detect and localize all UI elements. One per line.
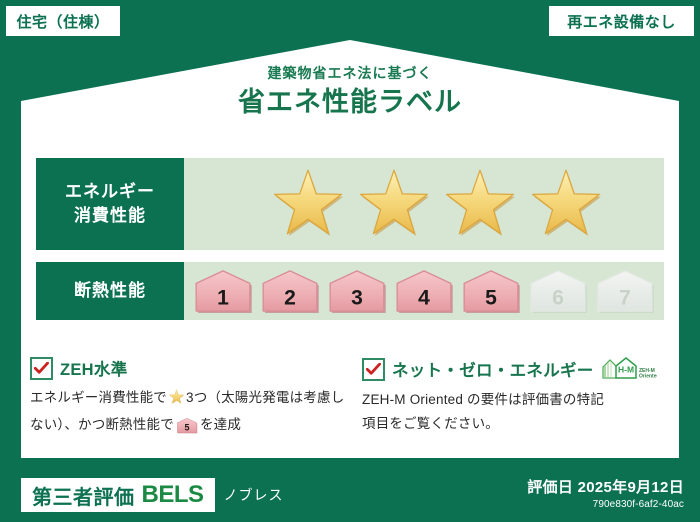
metric-label-insulation-line1: 断熱性能 xyxy=(74,279,146,303)
note-net-zero-energy: ネット・ゼロ・エネルギー H-M ZEH-M Oriented ZEH-M Or… xyxy=(362,356,670,436)
insulation-level-item: 3 xyxy=(326,268,388,314)
note-zeh-body-part1: エネルギー消費性能で xyxy=(30,390,167,405)
checkbox-net-zero-energy xyxy=(362,358,385,381)
house-level-number: 7 xyxy=(619,286,631,309)
house-icon: 2 xyxy=(259,268,321,314)
insulation-level-item: 4 xyxy=(393,268,455,314)
house-icon: 5 xyxy=(176,417,198,434)
star-rating xyxy=(243,167,605,241)
svg-text:Oriented: Oriented xyxy=(639,374,657,380)
house-level-number: 1 xyxy=(217,286,229,309)
star-rating-item xyxy=(269,167,347,241)
tag-house-type-label: 住宅（住棟） xyxy=(16,11,109,32)
footer-evaluation-block: 評価日 2025年9月12日 790e830f-6af2-40ac xyxy=(527,478,684,512)
note-zeh-header: ZEH水準 xyxy=(30,356,348,380)
checkbox-zeh-standard xyxy=(30,357,53,380)
house-icon: 7 xyxy=(594,268,656,314)
evaluation-id: 790e830f-6af2-40ac xyxy=(527,498,684,512)
insulation-level-item: 2 xyxy=(259,268,321,314)
tag-renewable-label: 再エネ設備なし xyxy=(567,11,676,32)
house-icon: 4 xyxy=(393,268,455,314)
star-icon xyxy=(355,167,433,242)
bels-plate: 第三者評価 BELS xyxy=(21,478,215,512)
metric-row-energy-consumption: エネルギー 消費性能 xyxy=(36,158,664,250)
star-icon xyxy=(527,167,605,242)
house-level-number: 5 xyxy=(485,286,497,309)
inline-star-icon xyxy=(168,393,185,408)
note-zeh-body-part3: を達成 xyxy=(200,417,241,432)
zeh-m-oriented-logo-icon: H-M ZEH-M Oriented xyxy=(601,356,657,382)
insulation-level-item: 5 xyxy=(460,268,522,314)
title-block: 建築物省エネ法に基づく 省エネ性能ラベル xyxy=(0,64,700,119)
page-title: 省エネ性能ラベル xyxy=(0,85,700,119)
energy-performance-label: 住宅（住棟） 再エネ設備なし 建築物省エネ法に基づく 省エネ性能ラベル エネルギ… xyxy=(0,0,700,522)
star-rating-item xyxy=(441,167,519,241)
bels-kana-label: ノブレス xyxy=(224,485,284,505)
star-rating-item xyxy=(355,167,433,241)
star-icon xyxy=(441,167,519,242)
inline-house-level-icon: 5 xyxy=(176,422,198,437)
note-net-zero-header: ネット・ゼロ・エネルギー H-M ZEH-M Oriented xyxy=(362,356,670,382)
insulation-level-item: 6 xyxy=(527,268,589,314)
check-icon xyxy=(34,362,49,375)
note-net-zero-body-line2: 項目をご覧ください。 xyxy=(362,412,670,436)
metric-row-insulation: 断熱性能 1234567 xyxy=(36,262,664,320)
note-net-zero-body-line1: ZEH-M Oriented の要件は評価書の特記 xyxy=(362,388,670,412)
insulation-level-scale: 1234567 xyxy=(192,268,656,314)
star-icon xyxy=(269,167,347,242)
bels-en-label: BELS xyxy=(142,481,204,509)
star-rating-item xyxy=(527,167,605,241)
metric-body-insulation: 1234567 xyxy=(184,262,664,320)
evaluation-date: 評価日 2025年9月12日 xyxy=(527,478,684,497)
house-level-number: 4 xyxy=(418,286,430,309)
insulation-level-item: 1 xyxy=(192,268,254,314)
house-level-number: 6 xyxy=(552,286,564,309)
note-zeh-standard: ZEH水準 エネルギー消費性能で3つ（太陽光発電は考慮しない）、かつ断熱性能で5… xyxy=(30,356,348,442)
star-icon xyxy=(168,389,185,405)
metric-label-energy-line1: エネルギー xyxy=(65,180,155,204)
note-zeh-body-star-count: 3つ（太陽光発電 xyxy=(186,390,290,405)
footer-bels-block: 第三者評価 BELS ノブレス xyxy=(21,478,284,512)
note-net-zero-title: ネット・ゼロ・エネルギー xyxy=(392,357,594,381)
svg-text:H-M: H-M xyxy=(618,365,634,375)
house-icon: 6 xyxy=(527,268,589,314)
check-icon xyxy=(366,363,381,376)
metric-body-energy-consumption xyxy=(184,158,664,250)
note-zeh-body: エネルギー消費性能で3つ（太陽光発電は考慮しない）、かつ断熱性能で5を達成 xyxy=(30,386,348,442)
house-level-number: 3 xyxy=(351,286,363,309)
metric-label-energy-line2: 消費性能 xyxy=(74,204,146,228)
tag-renewable-equipment: 再エネ設備なし xyxy=(549,6,694,36)
house-level-number: 2 xyxy=(284,286,296,309)
subtitle: 建築物省エネ法に基づく xyxy=(0,64,700,82)
note-net-zero-body: ZEH-M Oriented の要件は評価書の特記 項目をご覧ください。 xyxy=(362,388,670,436)
bels-jp-label: 第三者評価 xyxy=(32,481,135,510)
house-level-number: 5 xyxy=(184,422,189,432)
house-icon: 1 xyxy=(192,268,254,314)
tag-house-type: 住宅（住棟） xyxy=(6,6,120,36)
house-icon: 5 xyxy=(460,268,522,314)
insulation-level-item: 7 xyxy=(594,268,656,314)
metric-label-energy-consumption: エネルギー 消費性能 xyxy=(36,158,184,250)
metric-label-insulation: 断熱性能 xyxy=(36,262,184,320)
note-zeh-title: ZEH水準 xyxy=(60,356,128,380)
house-icon: 3 xyxy=(326,268,388,314)
